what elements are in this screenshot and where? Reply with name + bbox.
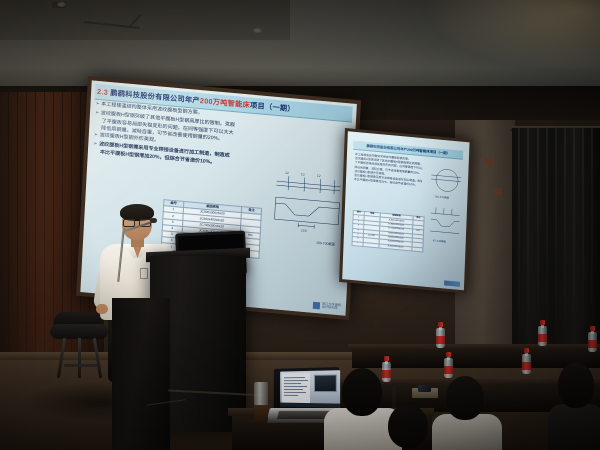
desk-top-far — [348, 344, 600, 350]
figure-caption: 150-700截面 — [316, 240, 335, 247]
secondary-slide-body: 本工程楼盖结构整体采用波纹腹板型钢方案。 波纹腹板H型钢突破了其他平腹板H型钢高… — [354, 152, 423, 188]
web-profile-svg: 121212 150 — [268, 167, 347, 242]
ceiling-soffit — [0, 0, 290, 40]
logo-text: 浙江大学建筑 设计研究院 — [322, 302, 341, 311]
audience-member — [432, 376, 502, 450]
ceiling-spot-1 — [57, 2, 66, 7]
secondary-fig-caption-2: 42-130截面 — [433, 238, 447, 243]
glass-contents — [254, 405, 268, 422]
secondary-projection-screen: 鹏鹞科技股份有限公司年产200万吨智能床项目（一期） 本工程楼盖结构整体采用波纹… — [339, 128, 473, 294]
secondary-slide: 鹏鹞科技股份有限公司年产200万吨智能床项目（一期） 本工程楼盖结构整体采用波纹… — [342, 131, 469, 290]
secondary-diagram-svg: 150-700截面 42-130截面 — [426, 163, 463, 252]
secondary-institution-logo — [444, 280, 460, 286]
cell: 7 — [352, 241, 363, 246]
secondary-spec-table: 编号 规格 截面规格 备注 1JC900x300x6x20 2JC800x400… — [351, 210, 424, 253]
water-bottle — [522, 348, 531, 374]
bullet-arrow-icon: ➢ — [95, 109, 100, 116]
svg-text:12: 12 — [301, 172, 305, 176]
conference-hall-photo: 2.3 鹏鹞科技股份有限公司年产200万吨智能床项目（一期） ➢本工程楼盖结构整… — [0, 0, 600, 450]
logo-mark-icon — [313, 302, 320, 310]
microphone-icon — [150, 218, 157, 223]
svg-text:12: 12 — [285, 171, 289, 175]
secondary-diagram: 150-700截面 42-130截面 — [426, 163, 463, 252]
slide-title-tail: 项目（一期） — [250, 101, 295, 114]
bullet-arrow-icon: ➢ — [93, 140, 98, 147]
presenter-hand-left — [96, 304, 108, 314]
phone-on-desk — [418, 385, 431, 392]
audience-head — [342, 368, 382, 416]
institution-logo: 浙江大学建筑 设计研究院 — [313, 302, 341, 312]
wall-marker-lower — [493, 188, 502, 195]
secondary-fig-caption-1: 150-700截面 — [434, 194, 449, 199]
water-bottle — [436, 322, 445, 348]
audience-head — [446, 376, 484, 420]
presenter-badge — [140, 268, 148, 279]
audience-head — [388, 404, 428, 448]
floor-speaker — [112, 298, 170, 450]
bullet-arrow-icon: ➢ — [95, 101, 100, 108]
cell — [412, 247, 423, 252]
audience-member — [548, 362, 600, 450]
svg-text:150: 150 — [301, 228, 307, 233]
corrugated-web-diagram: 121212 150 150-700截面 — [268, 167, 347, 242]
water-bottle — [588, 326, 597, 352]
audience-head — [558, 362, 594, 408]
cell — [363, 242, 379, 248]
drinking-glass — [254, 382, 268, 422]
stool-footrest — [64, 364, 98, 367]
slide-title-emphasis: 200万吨智能床 — [200, 96, 251, 109]
window-curtain — [512, 128, 600, 353]
audience-body — [548, 404, 600, 450]
bullet-arrow-icon: ➢ — [94, 132, 99, 139]
slide-number: 2.3 — [97, 87, 108, 97]
water-bottle — [444, 352, 453, 378]
wall-marker-upper — [485, 158, 494, 165]
water-bottle — [538, 320, 547, 346]
audience-member — [382, 404, 442, 450]
ceiling-spot-2 — [253, 28, 262, 33]
svg-text:12: 12 — [317, 174, 321, 178]
laptop-document-window — [282, 373, 310, 403]
ceiling-glow — [420, 0, 600, 74]
